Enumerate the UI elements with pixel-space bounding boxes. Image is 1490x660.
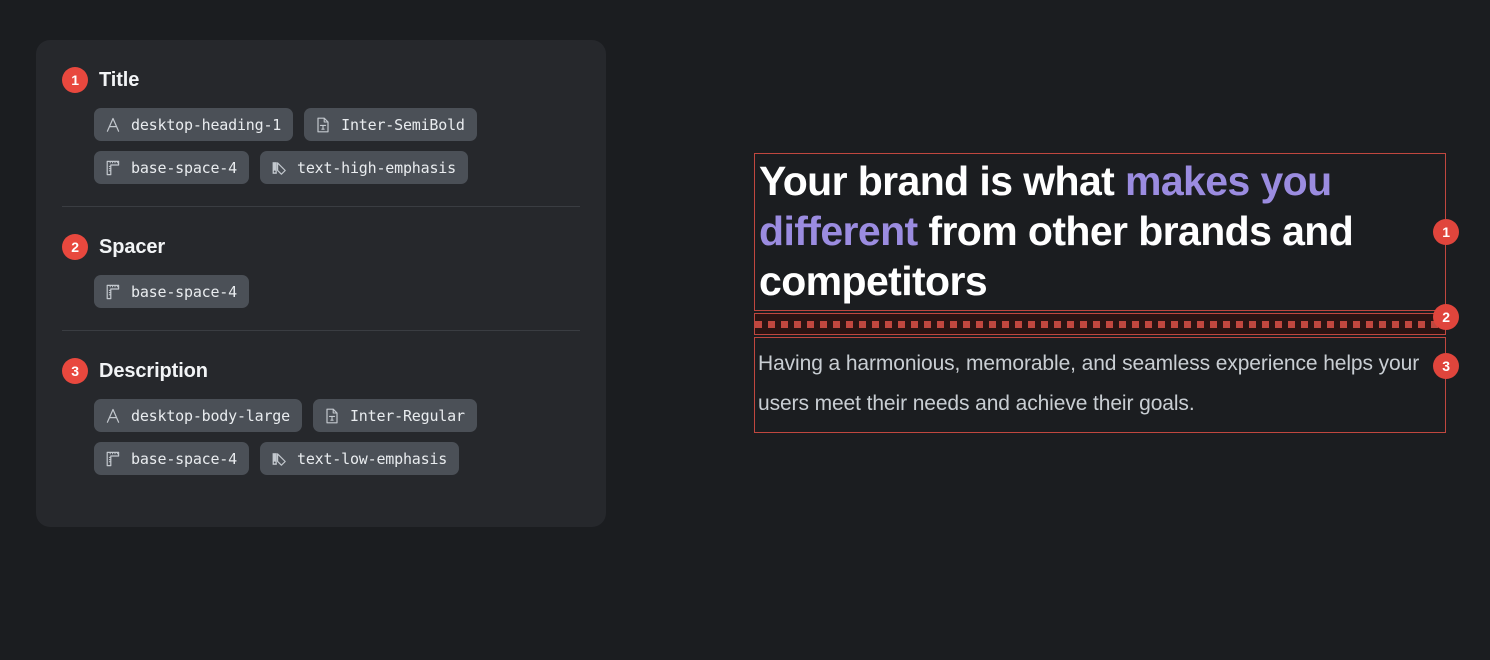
token-tag-label: Inter-Regular (350, 407, 465, 425)
headline-measure-box: Your brand is what makes you different f… (754, 153, 1446, 311)
spec-section-title: 1 Title desktop-heading-1 (62, 66, 580, 184)
token-tag-row: base-space-4 (94, 275, 580, 308)
section-header: 1 Title (62, 66, 580, 94)
token-tag-label: desktop-heading-1 (131, 116, 281, 134)
token-tag-label: base-space-4 (131, 283, 237, 301)
spacer-hatch-pattern (755, 321, 1445, 328)
description-text: Having a harmonious, memorable, and seam… (758, 344, 1445, 424)
design-spec-panel: 1 Title desktop-heading-1 (36, 40, 606, 527)
token-tag[interactable]: text-high-emphasis (260, 151, 468, 184)
spec-section-spacer: 2 Spacer base-space-4 (62, 206, 580, 308)
measure-marker-2: 2 (1433, 304, 1459, 330)
token-tag-row: desktop-body-large Inter-Regular (94, 399, 580, 432)
token-tag[interactable]: Inter-SemiBold (304, 108, 477, 141)
typography-icon (104, 116, 122, 134)
token-tag-label: desktop-body-large (131, 407, 290, 425)
token-tag-row: desktop-heading-1 Inter-SemiBold (94, 108, 580, 141)
section-number-badge: 1 (62, 67, 88, 93)
font-file-icon (314, 116, 332, 134)
ruler-icon (104, 283, 122, 301)
section-number-badge: 3 (62, 358, 88, 384)
token-tag-row: base-space-4 text-high-emphasis (94, 151, 580, 184)
section-header: 2 Spacer (62, 233, 580, 261)
measure-marker-1: 1 (1433, 219, 1459, 245)
token-tag-label: text-high-emphasis (297, 159, 456, 177)
color-swatch-icon (270, 450, 288, 468)
token-tag[interactable]: base-space-4 (94, 442, 249, 475)
token-tag-label: base-space-4 (131, 159, 237, 177)
ruler-icon (104, 159, 122, 177)
description-measure-box: Having a harmonious, memorable, and seam… (754, 337, 1446, 433)
token-tag[interactable]: base-space-4 (94, 151, 249, 184)
token-tag-list: base-space-4 (62, 275, 580, 308)
token-tag-label: base-space-4 (131, 450, 237, 468)
token-tag-list: desktop-body-large Inter-Regular (62, 399, 580, 475)
annotated-preview: Your brand is what makes you different f… (754, 153, 1446, 433)
measure-marker-3: 3 (1433, 353, 1459, 379)
section-header: 3 Description (62, 357, 580, 385)
section-title-label: Spacer (99, 236, 165, 259)
token-tag-label: Inter-SemiBold (341, 116, 465, 134)
token-tag[interactable]: Inter-Regular (313, 399, 477, 432)
token-tag[interactable]: text-low-emphasis (260, 442, 459, 475)
token-tag-label: text-low-emphasis (297, 450, 447, 468)
token-tag-row: base-space-4 text-low-emphasis (94, 442, 580, 475)
spacer-measure-box (754, 313, 1446, 335)
token-tag[interactable]: desktop-heading-1 (94, 108, 293, 141)
section-title-label: Description (99, 360, 208, 383)
section-title-label: Title (99, 69, 139, 92)
token-tag-list: desktop-heading-1 Inter-SemiBold (62, 108, 580, 184)
token-tag[interactable]: base-space-4 (94, 275, 249, 308)
spec-section-description: 3 Description desktop-body-large (62, 330, 580, 475)
token-tag[interactable]: desktop-body-large (94, 399, 302, 432)
color-swatch-icon (270, 159, 288, 177)
typography-icon (104, 407, 122, 425)
section-number-badge: 2 (62, 234, 88, 260)
font-file-icon (323, 407, 341, 425)
headline-part-1: Your brand is what (759, 158, 1125, 204)
headline-text: Your brand is what makes you different f… (757, 156, 1445, 306)
ruler-icon (104, 450, 122, 468)
